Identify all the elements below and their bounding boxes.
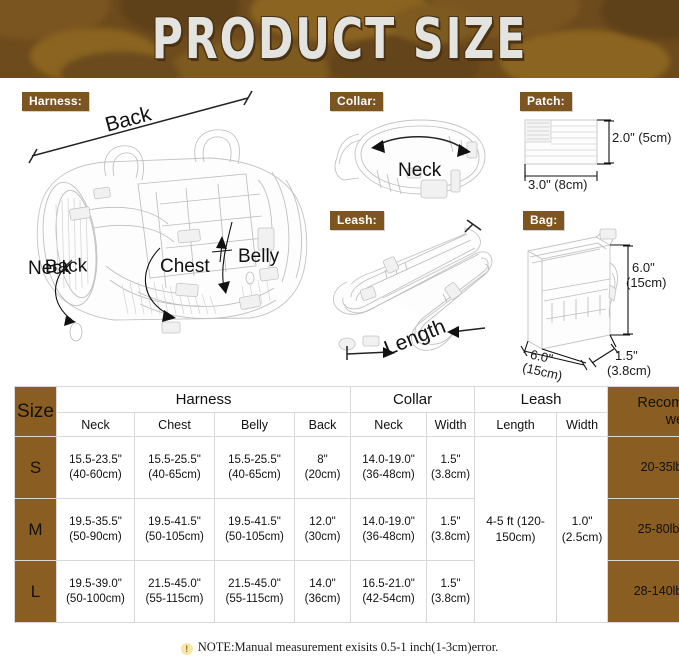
harness-callout-neck: Neck bbox=[28, 258, 71, 280]
table-subheader-harness-neck: Neck bbox=[57, 413, 135, 437]
cell-l-harness-belly: 21.5-45.0" (55-115cm) bbox=[215, 561, 295, 623]
row-size-m: M bbox=[15, 499, 57, 561]
table-group-leash: Leash bbox=[475, 387, 608, 413]
collar-callout-neck: Neck bbox=[398, 160, 441, 182]
recommended-weight-line2: weight bbox=[666, 412, 679, 428]
cell-m-harness-neck: 19.5-35.5" (50-90cm) bbox=[57, 499, 135, 561]
cell-leash-width: 1.0" (2.5cm) bbox=[557, 437, 608, 623]
bag-depth-line2: (3.8cm) bbox=[607, 363, 651, 378]
table-subheader-harness-back: Back bbox=[295, 413, 351, 437]
table-header-recommended-weight: Recommended weight bbox=[608, 387, 679, 437]
note-row: !NOTE:Manual measurement exisits 0.5-1 i… bbox=[0, 640, 679, 655]
cell-l-weight: 28-140lb (13-64kg) bbox=[608, 561, 679, 623]
note-text: NOTE:Manual measurement exisits 0.5-1 in… bbox=[198, 640, 499, 654]
cell-l-harness-back: 14.0" (36cm) bbox=[295, 561, 351, 623]
harness-callout-chest: Chest bbox=[160, 256, 210, 278]
cell-s-weight: 20-35lb (9-16kg) bbox=[608, 437, 679, 499]
cell-l-collar-neck: 16.5-21.0" (42-54cm) bbox=[351, 561, 427, 623]
cell-s-harness-neck: 15.5-23.5" (40-60cm) bbox=[57, 437, 135, 499]
cell-m-collar-neck: 14.0-19.0" (36-48cm) bbox=[351, 499, 427, 561]
patch-width-label: 3.0" (8cm) bbox=[528, 178, 588, 193]
cell-l-harness-neck: 19.5-39.0" (50-100cm) bbox=[57, 561, 135, 623]
page-title: PRODUCT SIZE bbox=[10, 0, 669, 78]
table-subheader-harness-chest: Chest bbox=[135, 413, 215, 437]
row-size-s: S bbox=[15, 437, 57, 499]
cell-m-harness-chest: 19.5-41.5" (50-105cm) bbox=[135, 499, 215, 561]
cell-l-collar-width: 1.5" (3.8cm) bbox=[427, 561, 475, 623]
table-row: S 15.5-23.5" (40-60cm) 15.5-25.5" (40-65… bbox=[15, 437, 679, 499]
cell-s-collar-width: 1.5" (3.8cm) bbox=[427, 437, 475, 499]
table-subheader-leash-length: Length bbox=[475, 413, 557, 437]
patch-section-label: Patch: bbox=[520, 92, 572, 111]
size-table: Size Harness Collar Leash Recommended we… bbox=[14, 386, 679, 623]
bag-height-line1: 6.0" bbox=[632, 260, 655, 275]
cell-s-collar-neck: 14.0-19.0" (36-48cm) bbox=[351, 437, 427, 499]
diagram-area: Harness: bbox=[0, 78, 679, 372]
bag-height-line2: (15cm) bbox=[626, 275, 666, 290]
harness-illustration bbox=[10, 88, 330, 368]
cell-m-harness-belly: 19.5-41.5" (50-105cm) bbox=[215, 499, 295, 561]
cell-s-harness-chest: 15.5-25.5" (40-65cm) bbox=[135, 437, 215, 499]
table-subheader-collar-width: Width bbox=[427, 413, 475, 437]
bag-depth-line1: 1.5" bbox=[615, 348, 638, 363]
patch-height-label: 2.0" (5cm) bbox=[612, 131, 672, 146]
cell-s-harness-back: 8" (20cm) bbox=[295, 437, 351, 499]
row-size-l: L bbox=[15, 561, 57, 623]
table-group-harness: Harness bbox=[57, 387, 351, 413]
cell-m-collar-width: 1.5" (3.8cm) bbox=[427, 499, 475, 561]
cell-s-harness-belly: 15.5-25.5" (40-65cm) bbox=[215, 437, 295, 499]
table-group-collar: Collar bbox=[351, 387, 475, 413]
table-header-size: Size bbox=[15, 387, 57, 437]
table-subheader-collar-neck: Neck bbox=[351, 413, 427, 437]
size-table-wrapper: Size Harness Collar Leash Recommended we… bbox=[14, 386, 665, 622]
cell-leash-length: 4-5 ft (120-150cm) bbox=[475, 437, 557, 623]
harness-callout-belly: Belly bbox=[238, 246, 279, 268]
table-subheader-leash-width: Width bbox=[557, 413, 608, 437]
cell-m-harness-back: 12.0" (30cm) bbox=[295, 499, 351, 561]
warning-icon: ! bbox=[181, 643, 193, 655]
table-subheader-harness-belly: Belly bbox=[215, 413, 295, 437]
page-header: PRODUCT SIZE bbox=[0, 0, 679, 78]
recommended-weight-line1: Recommended bbox=[637, 395, 679, 411]
cell-l-harness-chest: 21.5-45.0" (55-115cm) bbox=[135, 561, 215, 623]
cell-m-weight: 25-80lb (11-36kg) bbox=[608, 499, 679, 561]
